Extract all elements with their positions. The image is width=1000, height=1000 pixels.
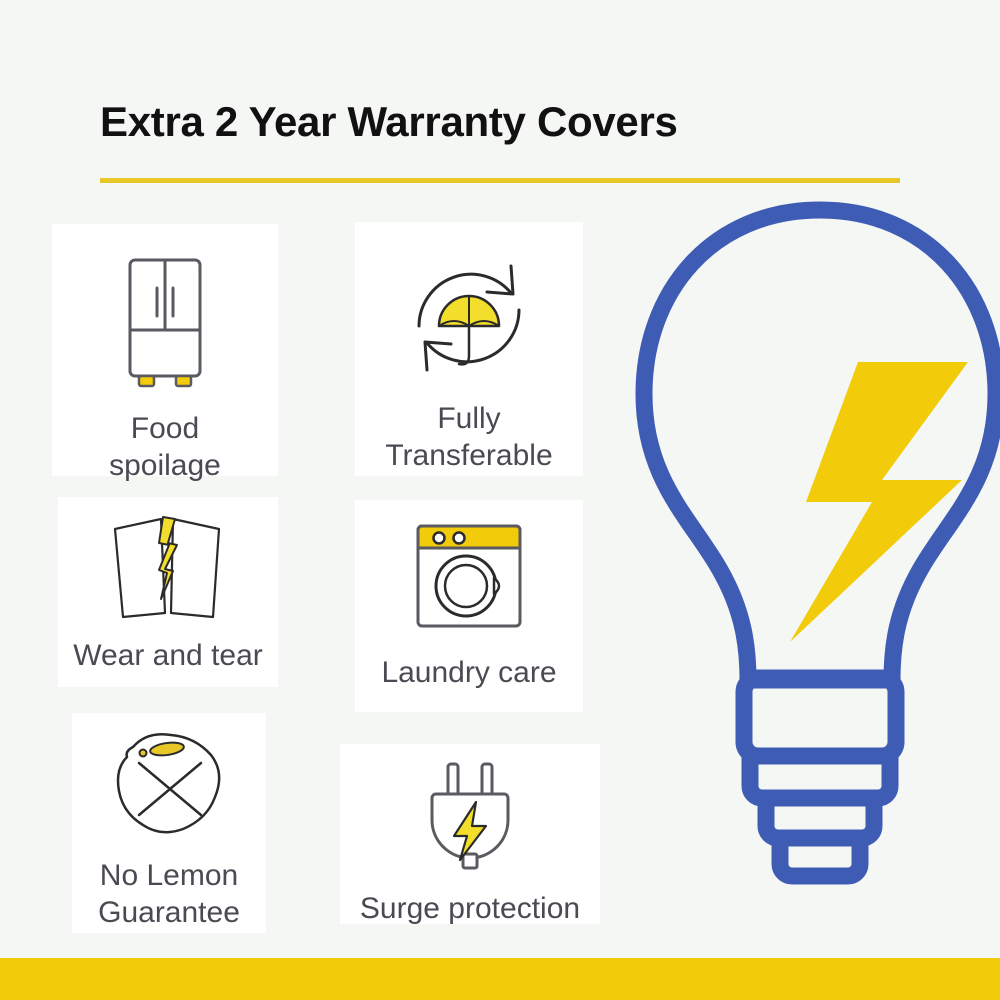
page-title: Extra 2 Year Warranty Covers xyxy=(100,98,678,146)
lightning-bolt-icon xyxy=(790,362,968,642)
feature-caption: No Lemon Guarantee xyxy=(98,858,240,931)
feature-caption: Laundry care xyxy=(381,655,556,692)
lightbulb-illustration xyxy=(620,180,1000,920)
lightbulb-icon xyxy=(644,210,996,876)
footer-accent-bar xyxy=(0,958,1000,1000)
feature-tile-laundry-care: Laundry care xyxy=(355,500,583,712)
feature-tile-wear-and-tear: Wear and tear xyxy=(58,497,278,687)
feature-caption: Surge protection xyxy=(360,891,580,928)
refrigerator-icon xyxy=(105,252,225,399)
warranty-infographic: Extra 2 Year Warranty Covers Food spoila… xyxy=(0,0,1000,1000)
feature-tile-surge-protection: Surge protection xyxy=(340,744,600,924)
feature-tile-fully-transferable: Fully Transferable xyxy=(355,222,583,476)
feature-tile-no-lemon-guarantee: No Lemon Guarantee xyxy=(72,713,266,933)
feature-caption: Food spoilage xyxy=(109,411,221,484)
torn-paper-icon xyxy=(101,513,235,628)
feature-caption: Fully Transferable xyxy=(385,401,552,474)
plug-bolt-icon xyxy=(414,758,526,881)
washing-machine-icon xyxy=(410,518,528,641)
umbrella-refresh-icon xyxy=(399,248,539,393)
feature-caption: Wear and tear xyxy=(73,638,263,675)
lemon-crossed-icon xyxy=(103,725,235,848)
feature-tile-food-spoilage: Food spoilage xyxy=(52,224,278,476)
